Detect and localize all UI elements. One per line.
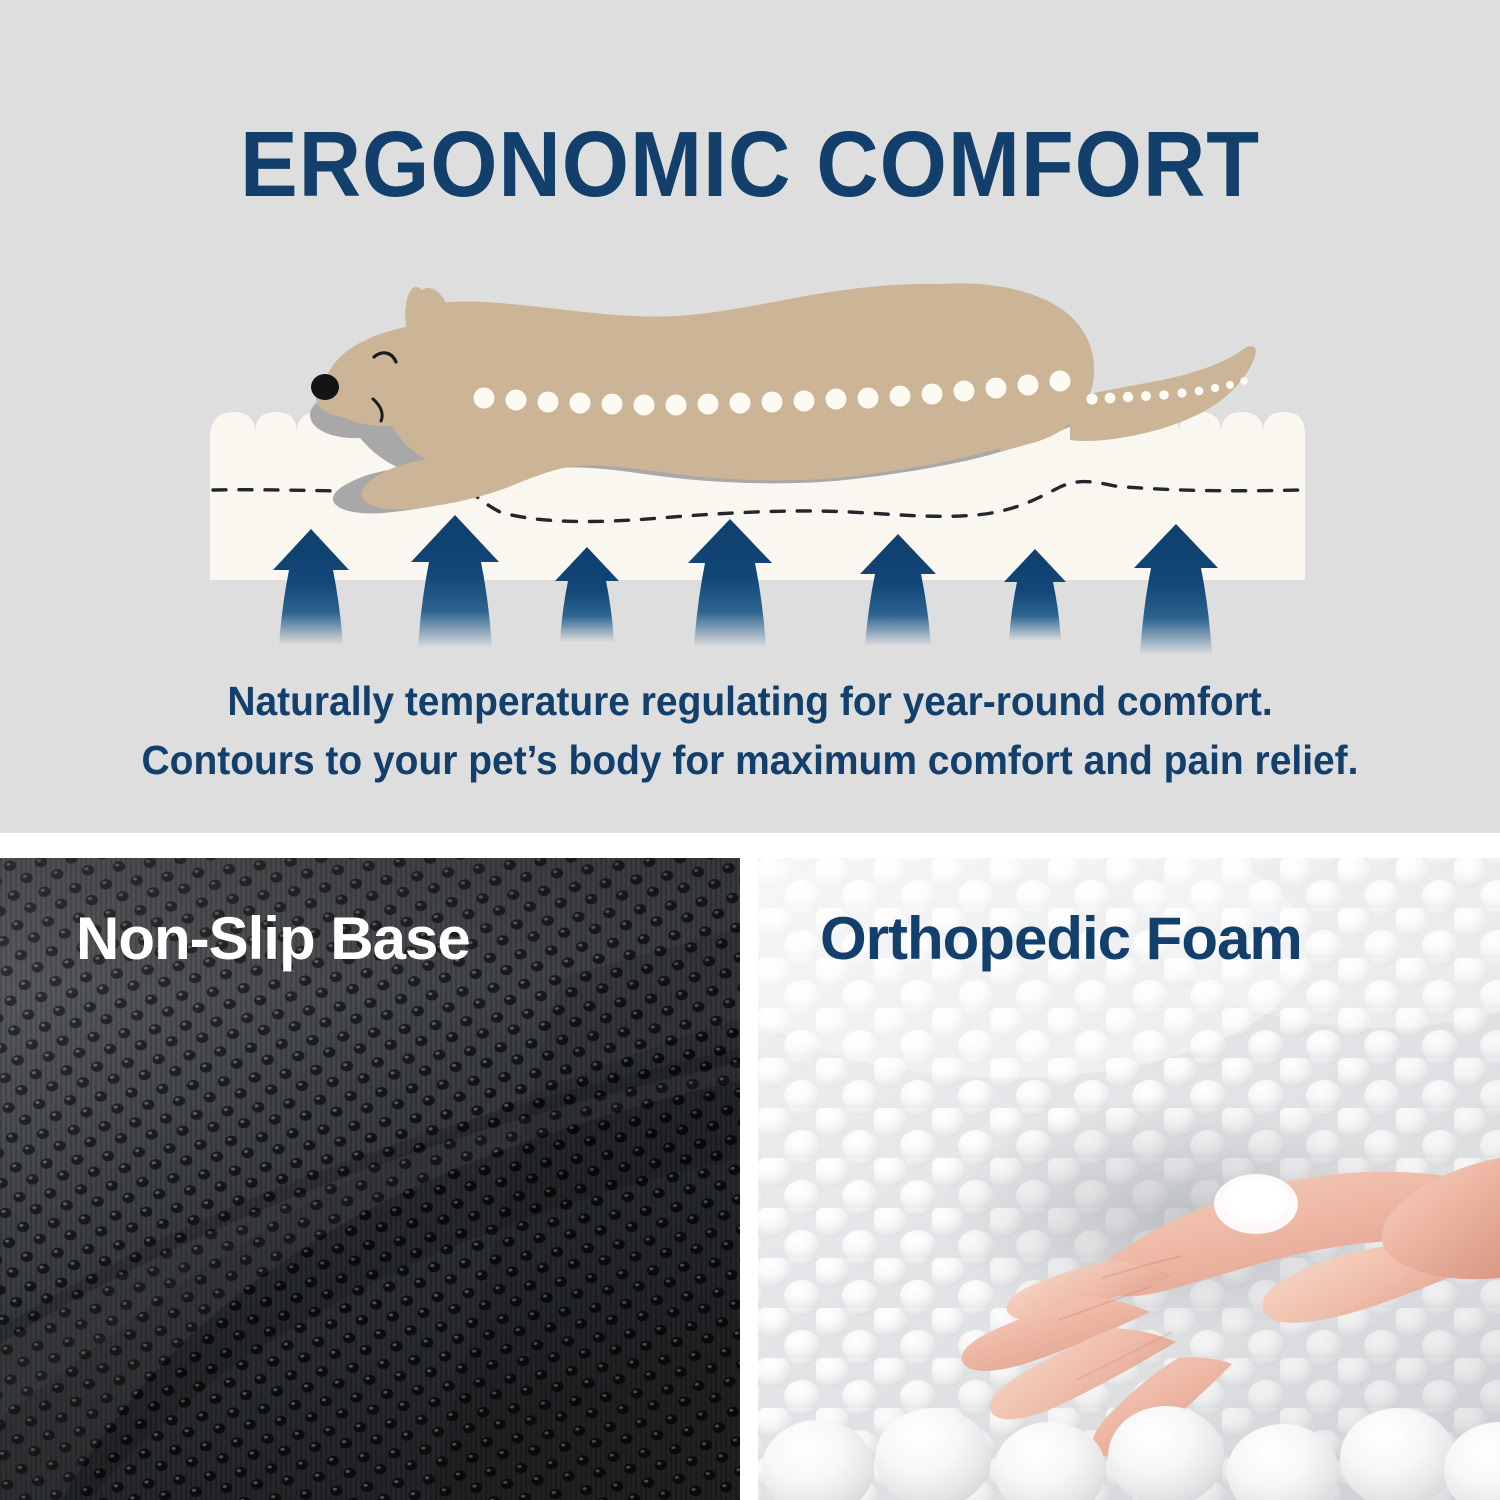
panel-label-orthopedic-foam: Orthopedic Foam: [820, 904, 1302, 973]
panel-non-slip-base: Non-Slip Base: [0, 858, 740, 1500]
ergonomic-comfort-panel: ERGONOMIC COMFORT: [0, 0, 1500, 833]
dog-on-mattress-illustration: [0, 0, 1500, 680]
infographic-page: ERGONOMIC COMFORT: [0, 0, 1500, 1500]
caption-line-1: Naturally temperature regulating for yea…: [38, 672, 1463, 731]
panel-orthopedic-foam: Orthopedic Foam: [758, 858, 1500, 1500]
caption-line-2: Contours to your pet’s body for maximum …: [38, 731, 1463, 790]
caption-block: Naturally temperature regulating for yea…: [38, 672, 1463, 791]
feature-panels-row: Non-Slip Base: [0, 858, 1500, 1500]
panel-label-non-slip-base: Non-Slip Base: [76, 904, 470, 973]
dog-nose: [311, 374, 339, 400]
